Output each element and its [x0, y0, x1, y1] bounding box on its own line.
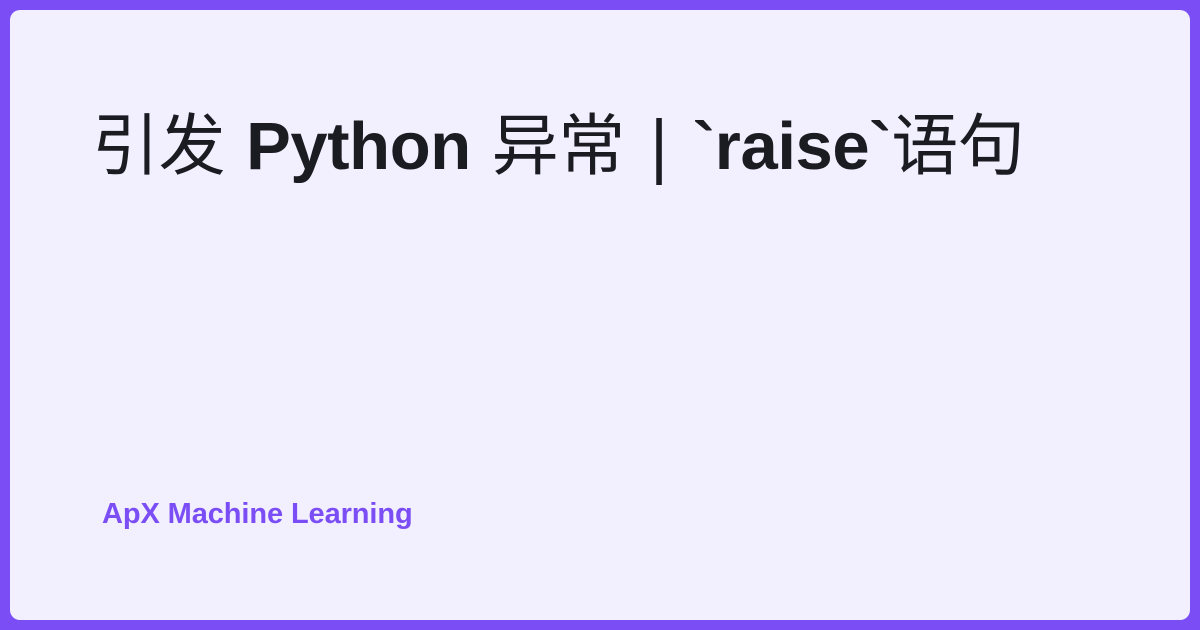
title-space-4 [672, 107, 693, 185]
title-space-2 [471, 107, 492, 185]
title-segment-code-raise: `raise` [693, 109, 891, 184]
title-segment-cjk-2: 异常 [492, 107, 625, 185]
title-separator-pipe: | [646, 107, 672, 185]
title-segment-cjk-3: 语句 [891, 107, 1024, 185]
brand-label: ApX Machine Learning [102, 498, 413, 531]
title-space-3 [625, 107, 646, 185]
headline-block: 引发 Python 异常 | `raise`语句 [92, 106, 1094, 188]
page-title: 引发 Python 异常 | `raise`语句 [92, 106, 1094, 188]
title-segment-latin-python: Python [246, 109, 471, 184]
card-canvas: 引发 Python 异常 | `raise`语句 ApX Machine Lea… [10, 10, 1190, 620]
og-card: 引发 Python 异常 | `raise`语句 ApX Machine Lea… [0, 0, 1200, 630]
title-space-1 [225, 107, 246, 185]
title-segment-cjk-1: 引发 [92, 107, 225, 185]
